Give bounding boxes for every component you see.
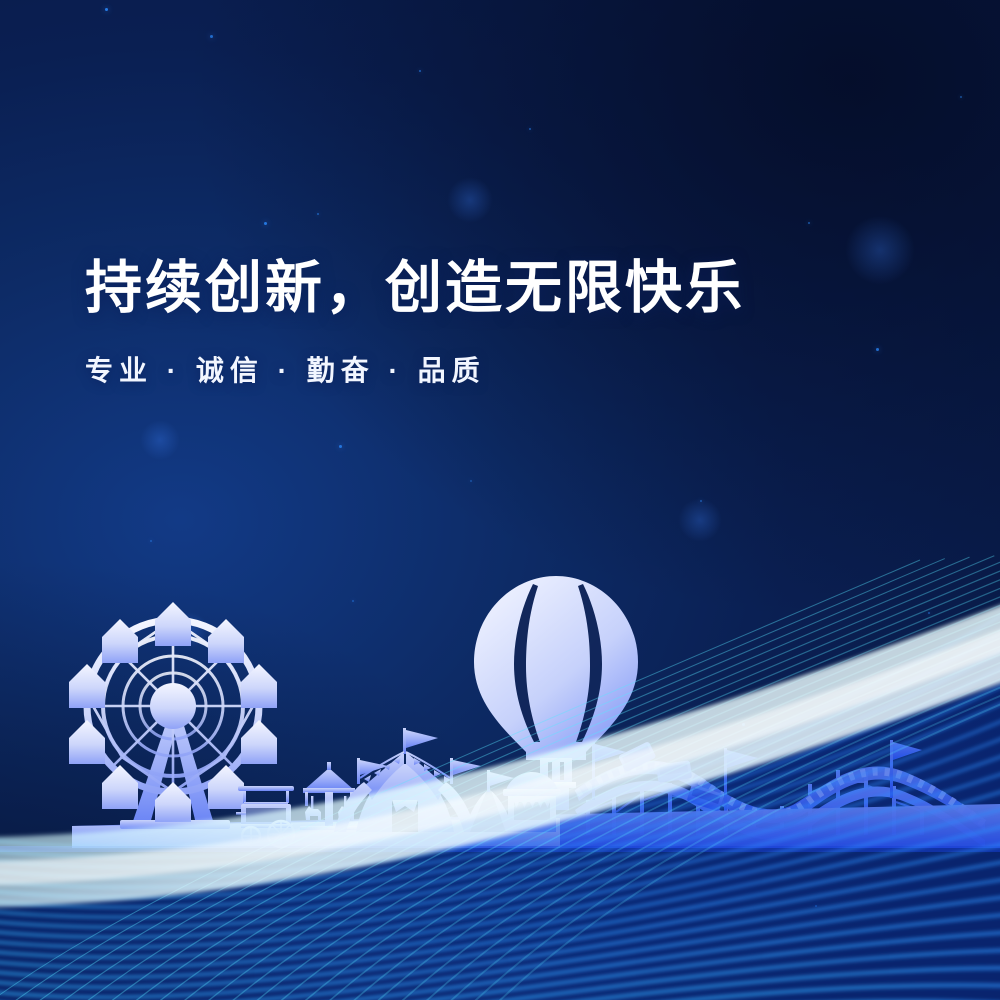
glowing-line-wave	[0, 0, 1000, 1000]
banner-stage: 持续创新，创造无限快乐 专业 · 诚信 · 勤奋 · 品质	[0, 0, 1000, 1000]
